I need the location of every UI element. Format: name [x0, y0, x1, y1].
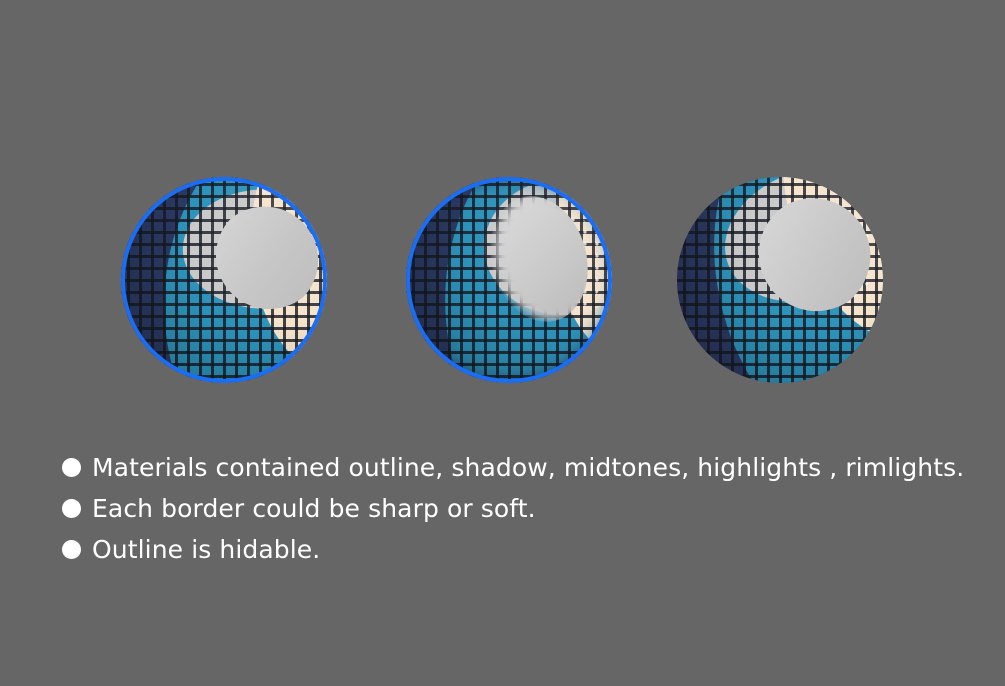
shading-stack: [677, 177, 883, 383]
slide-canvas: Materials contained outline, shadow, mid…: [0, 0, 1005, 686]
list-item: Outline is hidable.: [62, 529, 982, 570]
material-preview-sphere-sharp: [121, 177, 327, 383]
list-item: Materials contained outline, shadow, mid…: [62, 447, 982, 488]
list-item: Each border could be sharp or soft.: [62, 488, 982, 529]
bullet-label: Outline is hidable.: [92, 536, 320, 564]
bullet-dot-icon: [62, 540, 81, 559]
feature-bullet-list: Materials contained outline, shadow, mid…: [62, 447, 982, 570]
bullet-dot-icon: [62, 499, 81, 518]
bullet-label: Each border could be sharp or soft.: [92, 495, 536, 523]
sphere-showcase-row: [0, 0, 1005, 420]
shading-stack: [406, 177, 612, 383]
material-preview-sphere-no-outline: [677, 177, 883, 383]
material-preview-sphere-soft: [406, 177, 612, 383]
bullet-dot-icon: [62, 458, 81, 477]
bullet-label: Materials contained outline, shadow, mid…: [92, 454, 964, 482]
shading-stack: [121, 177, 327, 383]
